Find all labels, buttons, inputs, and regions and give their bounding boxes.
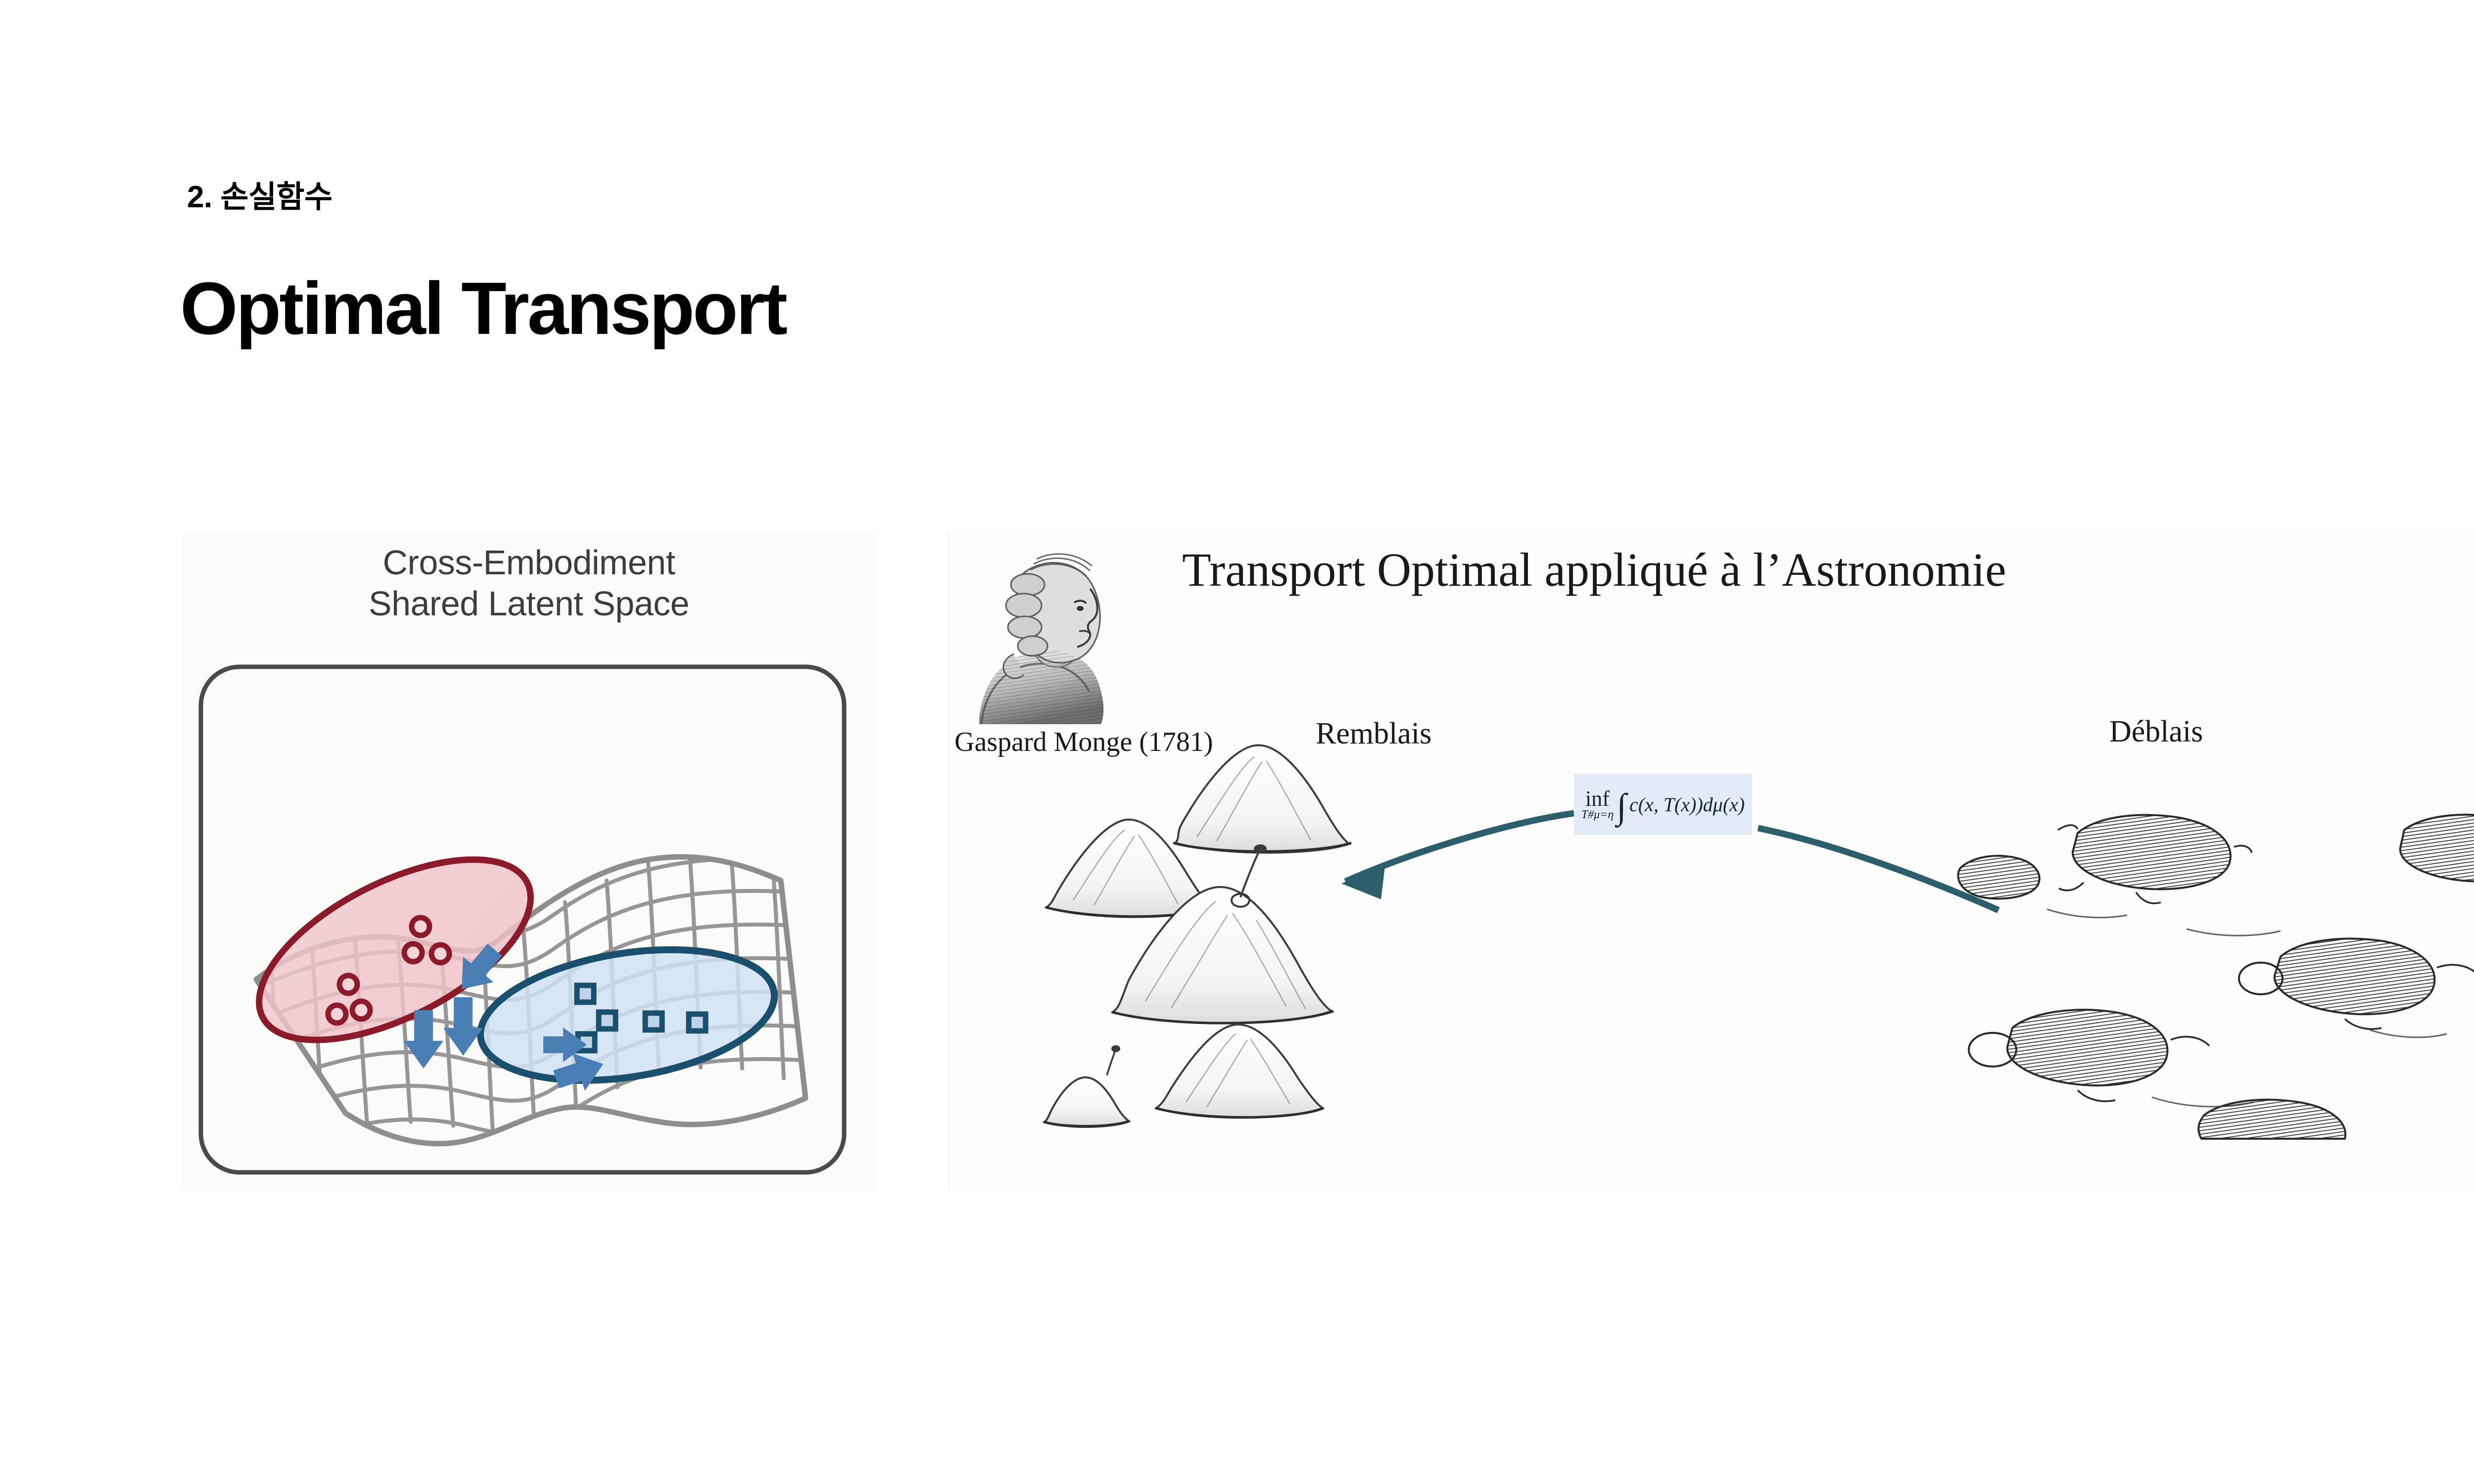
source-marker [328, 1005, 346, 1023]
formula-operator: inf [1585, 788, 1610, 809]
formula-integrand: c(x, T(x))dμ(x) [1629, 793, 1745, 816]
slide-canvas: 2. 손실함수 Optimal Transport Cross-Embodime… [0, 0, 2474, 1484]
pit [1969, 1010, 2209, 1101]
portrait-hatching [979, 651, 1103, 724]
latent-space-diagram [197, 663, 850, 1177]
left-figure-panel: Cross-Embodiment Shared Latent Space [182, 533, 876, 1191]
remblais-mounds [1044, 745, 1351, 1127]
mound [1044, 1045, 1130, 1127]
mound [1173, 745, 1351, 853]
target-marker [689, 1014, 706, 1031]
source-marker [431, 945, 449, 963]
pit [2198, 1100, 2345, 1139]
pit [1958, 856, 2039, 899]
engraving-scene [950, 533, 2474, 1190]
left-figure-header-line2: Shared Latent Space [182, 583, 876, 624]
label-remblais: Remblais [1316, 716, 1431, 751]
target-marker [577, 985, 594, 1002]
section-kicker: 2. 손실함수 [187, 182, 333, 213]
formula-subscript: T#μ=η [1581, 809, 1614, 821]
source-marker [352, 1001, 370, 1019]
pit [2400, 815, 2474, 881]
source-marker [412, 918, 429, 935]
objective-formula: inf T#μ=η ∫ c(x, T(x))dμ(x) [1581, 788, 1745, 821]
target-marker [599, 1012, 616, 1029]
deblais-pits [1958, 815, 2474, 1139]
formula-integral-sign: ∫ [1617, 794, 1626, 819]
source-marker [404, 944, 422, 962]
source-marker [339, 975, 357, 993]
right-figure-panel: Transport Optimal appliqué à l’Astronomi… [948, 533, 2474, 1190]
label-deblais: Déblais [2109, 714, 2203, 749]
left-figure-header-line1: Cross-Embodiment [182, 542, 876, 583]
pit [2058, 815, 2252, 903]
objective-formula-box: inf T#μ=η ∫ c(x, T(x))dμ(x) [1574, 774, 1752, 835]
left-figure-header: Cross-Embodiment Shared Latent Space [182, 542, 876, 624]
page-title: Optimal Transport [180, 271, 786, 345]
mound [1155, 1024, 1324, 1117]
portrait-caption: Gaspard Monge (1781) [954, 726, 1213, 758]
target-marker [645, 1013, 662, 1030]
pit [2239, 938, 2474, 1029]
